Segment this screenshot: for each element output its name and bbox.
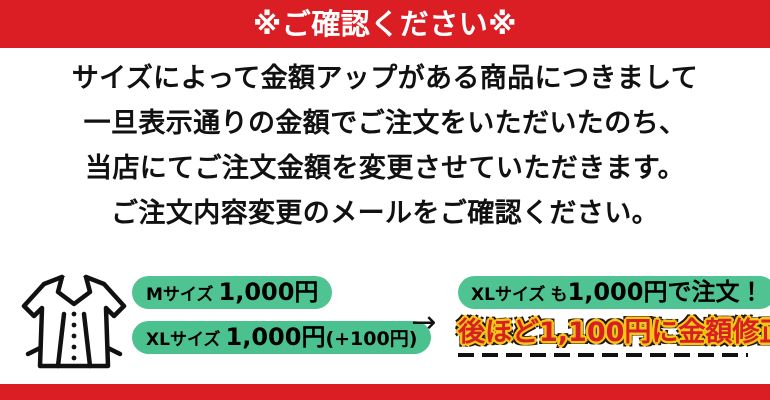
page-title: ※ご確認ください※ [253,10,517,39]
pill-size-label-m: Mサイズ [146,285,213,305]
pill-size-label-after: XLサイズ [471,285,545,305]
dress-shirt-icon [18,270,130,380]
pill-price-xl: 1,000円 [226,323,326,351]
notice-body: サイズによって金額アップがある商品につきまして 一旦表示通りの金額でご注文をいた… [0,56,770,236]
notice-line-4: ご注文内容変更のメールをご確認ください。 [0,191,770,236]
pill-price-after: 1,000円で注文！ [568,278,764,306]
price-pill-after: XLサイズ も1,000円で注文！ [458,276,770,309]
footer-bar [0,384,770,400]
size-price-notice-banner: ※ご確認ください※ サイズによって金額アップがある商品につきまして 一旦表示通り… [0,0,770,400]
before-price-column: Mサイズ 1,000円 XLサイズ 1,000円(+100円) [132,276,394,354]
price-correction-text: 後ほど1,100円に金額修正 [458,319,758,347]
after-price-column: XLサイズ も1,000円で注文！ 後ほど1,100円に金額修正 [458,276,758,357]
notice-line-1: サイズによって金額アップがある商品につきまして [0,56,770,101]
notice-line-3: 当店にてご注文金額を変更させていただきます。 [0,146,770,191]
pill-price-m: 1,000円 [219,278,319,306]
price-comparison-area: Mサイズ 1,000円 XLサイズ 1,000円(+100円) → XLサイズ … [0,262,770,384]
price-correction-underline [458,353,748,357]
notice-line-2: 一旦表示通りの金額でご注文をいただいたのち、 [0,101,770,146]
right-arrow-icon: → [402,308,446,338]
header-bar: ※ご確認ください※ [0,0,770,48]
pill-prefix-after: も [551,285,568,305]
pill-size-label-xl: XLサイズ [146,330,220,350]
price-pill-m: Mサイズ 1,000円 [132,276,332,309]
price-pill-xl: XLサイズ 1,000円(+100円) [132,321,431,354]
